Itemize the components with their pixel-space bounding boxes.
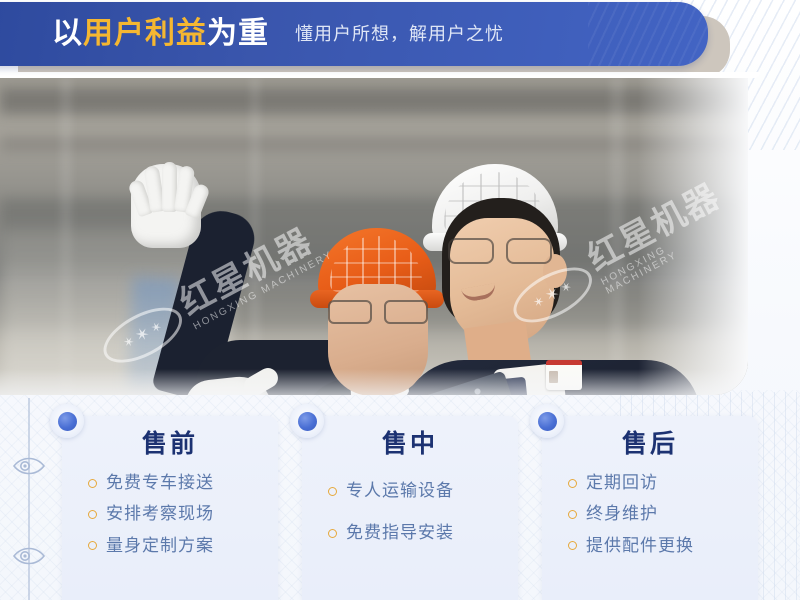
banner-title-highlight: 用户利益 (83, 17, 207, 50)
card-item-list: 定期回访 终身维护 提供配件更换 (542, 473, 758, 556)
card-item-list: 免费专车接送 安排考察现场 量身定制方案 (62, 473, 278, 556)
banner-title: 以用户利益为重 (52, 19, 269, 49)
hero-photo-illustration: ✶ ✶ ✶ 红星机器 HONGXING MACHINERY ✶ ✶ ✶ 红星机器 (0, 78, 748, 395)
service-card-after-sale[interactable]: 售后 定期回访 终身维护 提供配件更换 (542, 416, 758, 600)
list-item-label: 免费专车接送 (106, 473, 214, 493)
list-item[interactable]: 量身定制方案 (88, 536, 278, 556)
list-item[interactable]: 定期回访 (568, 473, 758, 493)
service-cards: ✶ ✶ ✶ 红星机器 HONGXING MACHINERY ✶ ✶ ✶ 红星机器… (0, 396, 800, 600)
card-title: 售中 (302, 432, 518, 457)
list-item-label: 专人运输设备 (346, 481, 454, 501)
bullet-circle-icon (568, 541, 577, 550)
bullet-circle-icon (568, 510, 577, 519)
bullet-circle-icon (328, 529, 337, 538)
list-item-label: 量身定制方案 (106, 536, 214, 556)
card-marker-dot-icon (290, 404, 324, 438)
list-item-label: 定期回访 (586, 473, 658, 493)
banner-title-suffix: 为重 (207, 17, 269, 50)
bullet-circle-icon (568, 479, 577, 488)
promo-banner-page: ✶ ✶ ✶ 红星机器 HONGXING MACHINERY ✶ ✶ ✶ 红星机器 (0, 0, 800, 600)
card-marker-dot-icon (530, 404, 564, 438)
photo-building-column (610, 78, 624, 395)
list-item-label: 提供配件更换 (586, 536, 694, 556)
list-item-label: 免费指导安装 (346, 523, 454, 543)
banner-title-prefix: 以 (52, 17, 83, 50)
list-item[interactable]: 专人运输设备 (328, 481, 518, 501)
photo-bottom-fade (0, 369, 748, 395)
banner-underline (0, 72, 760, 78)
service-card-during-sale[interactable]: 售中 专人运输设备 免费指导安装 (302, 416, 518, 600)
bullet-circle-icon (88, 510, 97, 519)
hero-photo: ✶ ✶ ✶ 红星机器 HONGXING MACHINERY ✶ ✶ ✶ 红星机器 (0, 78, 748, 395)
list-item[interactable]: 安排考察现场 (88, 504, 278, 524)
worker-white-eyeglasses (444, 238, 560, 262)
photo-right-fade (638, 78, 748, 395)
list-item[interactable]: 免费指导安装 (328, 523, 518, 543)
bullet-circle-icon (328, 487, 337, 496)
header-banner: 以用户利益为重 懂用户所想，解用户之忧 (0, 2, 708, 66)
list-item[interactable]: 终身维护 (568, 504, 758, 524)
list-item[interactable]: 免费专车接送 (88, 473, 278, 493)
list-item-label: 安排考察现场 (106, 504, 214, 524)
list-item-label: 终身维护 (586, 504, 658, 524)
card-title: 售后 (542, 432, 758, 457)
card-item-list: 专人运输设备 免费指导安装 (302, 481, 518, 544)
card-title: 售前 (62, 432, 278, 457)
list-item[interactable]: 提供配件更换 (568, 536, 758, 556)
photo-building-band (0, 88, 748, 114)
photo-building-band (0, 136, 748, 152)
worker-orange-eyeglasses (322, 300, 434, 322)
bullet-circle-icon (88, 541, 97, 550)
card-marker-dot-icon (50, 404, 84, 438)
service-card-pre-sale[interactable]: 售前 免费专车接送 安排考察现场 量身定制方案 (62, 416, 278, 600)
banner-subtitle: 懂用户所想，解用户之忧 (295, 25, 504, 43)
bullet-circle-icon (88, 479, 97, 488)
